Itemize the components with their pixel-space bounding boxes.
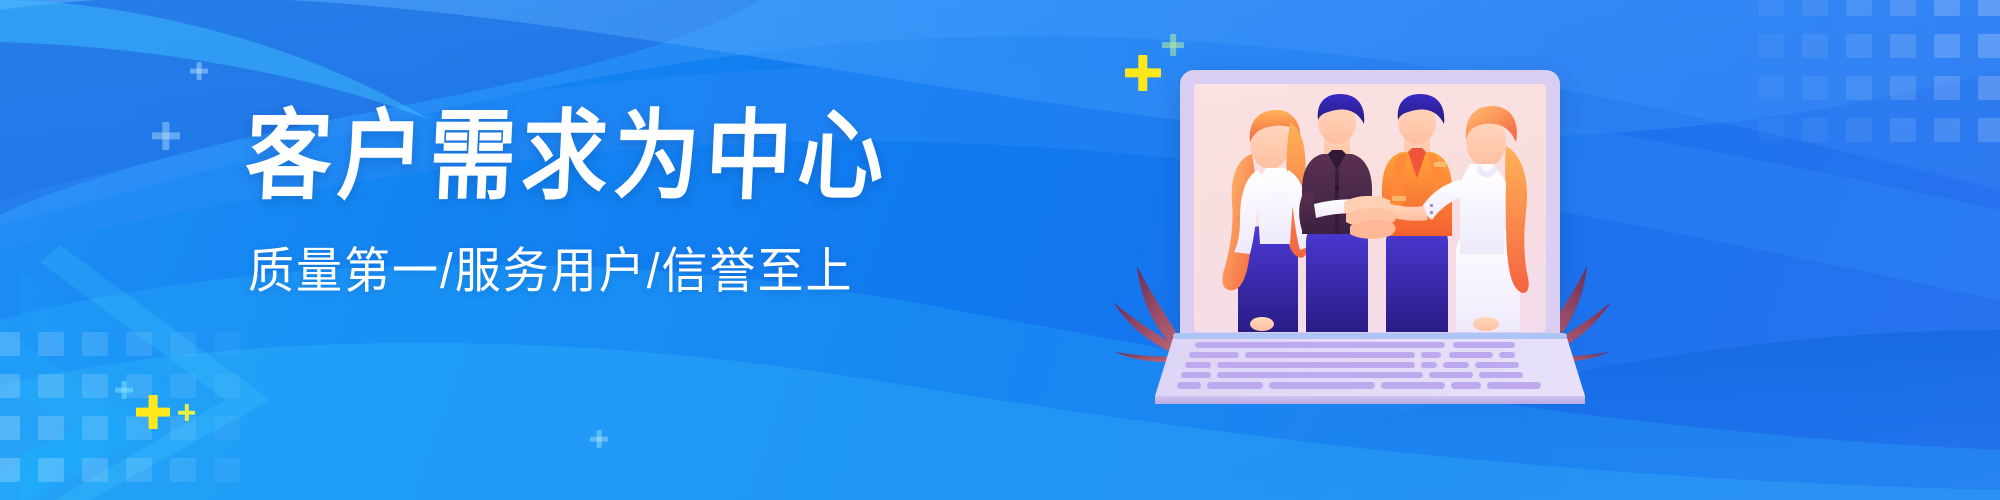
teamwork-laptop-illustration bbox=[1155, 70, 1585, 430]
square-grid-top-right bbox=[1758, 0, 2000, 142]
laptop-lid bbox=[1180, 70, 1560, 342]
square-grid-bottom-left bbox=[0, 332, 240, 500]
banner-copy: 客户需求为中心 质量第一/服务用户/信誉至上 bbox=[248, 108, 1068, 292]
plus-yellow-large-lower-left bbox=[136, 395, 170, 429]
plus-pale-mid-left bbox=[152, 122, 180, 150]
plus-yellow-small-lower-left bbox=[178, 404, 195, 421]
promo-banner: 客户需求为中心 质量第一/服务用户/信誉至上 bbox=[0, 0, 2000, 500]
banner-headline: 客户需求为中心 bbox=[243, 108, 1068, 206]
plus-pale-upper-left bbox=[190, 62, 208, 80]
plus-pale-lower-left bbox=[115, 381, 133, 399]
laptop-screen bbox=[1194, 84, 1546, 332]
laptop-keyboard-base bbox=[1155, 332, 1585, 408]
plus-soft-small-upper bbox=[1162, 34, 1184, 56]
banner-subtitle: 质量第一/服务用户/信誉至上 bbox=[248, 246, 1068, 295]
plus-pale-bottom-mid bbox=[590, 430, 608, 448]
